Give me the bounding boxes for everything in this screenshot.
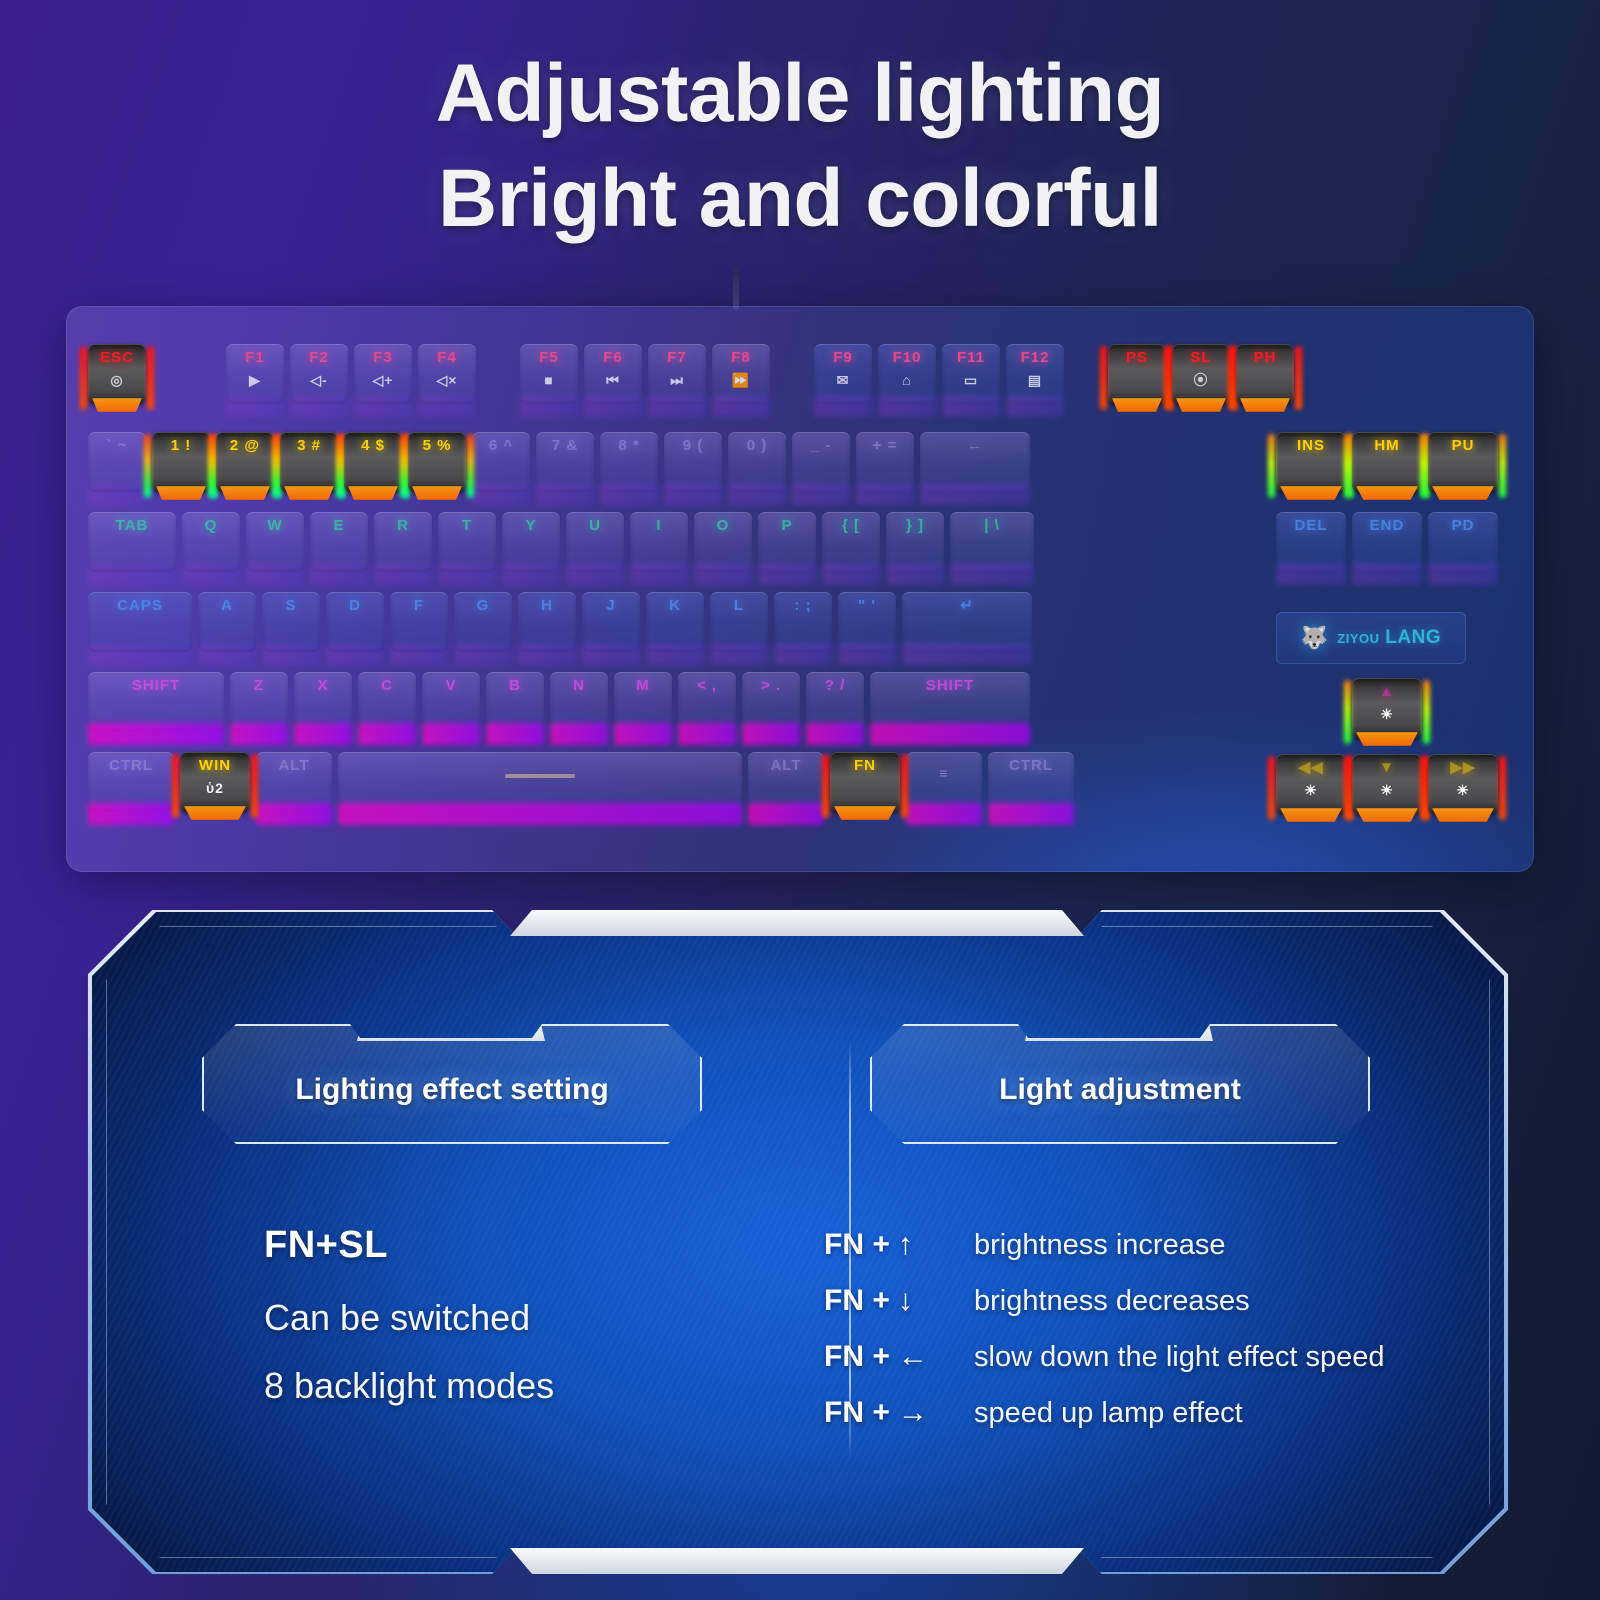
- key-row-qwerty-1[interactable]: Q: [182, 512, 240, 572]
- headline-line-1: Adjustable lighting: [120, 42, 1480, 147]
- key-underglow: [88, 643, 192, 665]
- key-row-qwerty-0[interactable]: TAB: [88, 512, 176, 572]
- key-underglow: [454, 643, 512, 665]
- key-arrow-down[interactable]: ▼☀: [1352, 754, 1422, 814]
- key-underglow: [358, 723, 416, 745]
- key-nav-hm[interactable]: HM: [1352, 432, 1422, 492]
- key-label: E: [333, 518, 344, 533]
- key-arrow-right[interactable]: ▶▶☀: [1428, 754, 1498, 814]
- key-label: PU: [1452, 438, 1475, 453]
- key-underglow: [338, 803, 742, 825]
- key-underglow: [230, 723, 288, 745]
- spacebar-marker: [505, 774, 575, 778]
- volume-down-icon: ◁-: [310, 373, 327, 387]
- key-underglow: [88, 723, 224, 745]
- key-f1[interactable]: F1▶: [226, 344, 284, 404]
- key-label: WIN: [199, 758, 231, 773]
- key-label: | \: [984, 518, 1000, 533]
- key-ALT-2[interactable]: ALT: [256, 752, 332, 812]
- brand-name-large: LANG: [1385, 627, 1441, 648]
- key-num-3[interactable]: 3 #: [280, 432, 338, 492]
- key-label: I: [656, 518, 661, 533]
- key-skirt-glow: [1432, 486, 1494, 500]
- key-row-qwerty-9[interactable]: O: [694, 512, 752, 572]
- key-side-light: [80, 346, 87, 410]
- key-menu-icon-6[interactable]: ≡: [906, 752, 982, 812]
- key-skirt-glow: [1280, 486, 1342, 500]
- key-label: W: [267, 518, 282, 533]
- key-underglow: [856, 483, 914, 505]
- key-side-light: [1100, 346, 1107, 410]
- key-label: A: [221, 598, 233, 613]
- keyboard-product-image: ESC◎F1▶F2◁-F3◁+F4◁×F5■F6⏮F7⏭F8⏩F9✉F10⌂F1…: [66, 306, 1534, 872]
- key-nav-pu[interactable]: PU: [1428, 432, 1498, 492]
- key-label: Y: [525, 518, 536, 533]
- key-label: ◀◀: [1298, 760, 1323, 775]
- brightness-sun-icon: ☀: [1380, 707, 1394, 721]
- key-underglow: [256, 803, 332, 825]
- key-label: ` ~: [107, 438, 128, 453]
- forward-icon: ⏩: [732, 373, 750, 387]
- key-skirt-glow: [1280, 808, 1342, 822]
- key-row-qwerty-7[interactable]: U: [566, 512, 624, 572]
- key-row-asdf-5[interactable]: G: [454, 592, 512, 652]
- key-label: B: [509, 678, 521, 693]
- key-row-asdf-9[interactable]: L: [710, 592, 768, 652]
- key-underglow: [988, 803, 1074, 825]
- page-headline: Adjustable lighting Bright and colorful: [0, 42, 1600, 252]
- shortcut-combo: FN +↑: [824, 1228, 974, 1262]
- key-row-qwerty-11[interactable]: { [: [822, 512, 880, 572]
- key-side-light: [467, 434, 474, 498]
- key-label: 8 *: [618, 438, 639, 453]
- left-description-line-2: 8 backlight modes: [264, 1365, 554, 1407]
- panel-top-notch: [510, 910, 1084, 936]
- brightness-sun-icon: ☀: [1456, 783, 1470, 797]
- key-underglow: [920, 483, 1030, 505]
- key-f3[interactable]: F3◁+: [354, 344, 412, 404]
- brand-logo-badge: 🐺 ZIYOU LANG: [1276, 612, 1466, 664]
- key-num-5[interactable]: 5 %: [408, 432, 466, 492]
- key-underglow: [520, 395, 578, 417]
- key-ps[interactable]: PS: [1108, 344, 1166, 404]
- key-row-asdf-3[interactable]: D: [326, 592, 384, 652]
- light-adjustment-row: FN +↑brightness increase: [824, 1228, 1385, 1262]
- shortcut-combo-text: FN +: [824, 1228, 890, 1261]
- key-skirt-glow: [92, 398, 142, 412]
- key-FN-5[interactable]: FN: [830, 752, 900, 812]
- key-label: 6 ^: [489, 438, 513, 453]
- key-row-qwerty-13[interactable]: | \: [950, 512, 1034, 572]
- key-underglow: [536, 483, 594, 505]
- key-label: 7 &: [552, 438, 578, 453]
- key-num-1[interactable]: 1 !: [152, 432, 210, 492]
- home-icon: ⌂: [902, 373, 911, 387]
- key-label: CTRL: [109, 758, 153, 773]
- key-row-qwerty-6[interactable]: Y: [502, 512, 560, 572]
- panel-bottom-notch: [510, 1548, 1084, 1574]
- key-underglow: [584, 395, 642, 417]
- key-row-zxcv-0[interactable]: SHIFT: [88, 672, 224, 732]
- key-nav-del[interactable]: DEL: [1276, 512, 1346, 572]
- keyboard-zxcv-row: SHIFTZXCVBNM< ,> .? /SHIFT: [88, 672, 1036, 732]
- key-f9[interactable]: F9✉: [814, 344, 872, 404]
- key-num-12[interactable]: + =: [856, 432, 914, 492]
- key-side-light: [1344, 756, 1351, 820]
- key-ph[interactable]: PH: [1236, 344, 1294, 404]
- key-underglow: [822, 563, 880, 585]
- key-side-light: [400, 434, 407, 498]
- key-underglow: [614, 723, 672, 745]
- key-underglow: [182, 563, 240, 585]
- wolf-icon: 🐺: [1301, 627, 1328, 649]
- key-row-qwerty-8[interactable]: I: [630, 512, 688, 572]
- key-underglow: [748, 803, 824, 825]
- key-row-zxcv-6[interactable]: N: [550, 672, 608, 732]
- key-label: } ]: [906, 518, 924, 533]
- key-label: L: [734, 598, 744, 613]
- key-underglow: [354, 395, 412, 417]
- shortcut-arrow-icon: ↑: [898, 1228, 913, 1262]
- key-underglow: [198, 643, 256, 665]
- shortcut-description: brightness decreases: [974, 1285, 1250, 1318]
- key-label: F11: [957, 350, 985, 365]
- key-underglow: [600, 483, 658, 505]
- key-skirt-glow: [834, 806, 896, 820]
- key-underglow: [246, 563, 304, 585]
- key-underglow: [262, 643, 320, 665]
- key-row-asdf-4[interactable]: F: [390, 592, 448, 652]
- key-underglow: [838, 643, 896, 665]
- key-skirt-glow: [412, 486, 462, 500]
- brand-wordmark: ZIYOU LANG: [1337, 627, 1441, 649]
- key-label: DEL: [1295, 518, 1328, 533]
- key-label: U: [589, 518, 601, 533]
- key-num-6[interactable]: 6 ^: [472, 432, 530, 492]
- brightness-sun-icon: ☀: [1304, 783, 1318, 797]
- key-esc[interactable]: ESC◎: [88, 344, 146, 404]
- key-row-asdf-8[interactable]: K: [646, 592, 704, 652]
- key-f5[interactable]: F5■: [520, 344, 578, 404]
- key-label: SHIFT: [926, 678, 974, 693]
- brightness-sun-icon: ☀: [1380, 783, 1394, 797]
- key-label: TAB: [116, 518, 149, 533]
- key-f12[interactable]: F12▤: [1006, 344, 1064, 404]
- key-underglow: [1276, 563, 1346, 585]
- shortcut-description: speed up lamp effect: [974, 1397, 1243, 1430]
- key-num-13[interactable]: ←: [920, 432, 1030, 492]
- key-label: 4 $: [361, 438, 385, 453]
- key-label: PD: [1452, 518, 1475, 533]
- key-row-qwerty-3[interactable]: E: [310, 512, 368, 572]
- key-underglow: [550, 723, 608, 745]
- key-label: V: [445, 678, 456, 693]
- key-label: INS: [1297, 438, 1325, 453]
- key-num-8[interactable]: 8 *: [600, 432, 658, 492]
- key-underglow: [870, 723, 1030, 745]
- key-arrow-up[interactable]: ▲☀: [1352, 678, 1422, 738]
- key-label: 2 @: [230, 438, 260, 453]
- key-arrow-left[interactable]: ◀◀☀: [1276, 754, 1346, 814]
- key-f4[interactable]: F4◁×: [418, 344, 476, 404]
- key-underglow: [418, 395, 476, 417]
- key-row-qwerty-4[interactable]: R: [374, 512, 432, 572]
- key-side-light: [1164, 346, 1171, 410]
- key-underglow: [902, 643, 1032, 665]
- key-label: CAPS: [117, 598, 163, 613]
- key-skirt-glow: [1176, 398, 1226, 412]
- key-f10[interactable]: F10⌂: [878, 344, 936, 404]
- key-nav-ins[interactable]: INS: [1276, 432, 1346, 492]
- left-combo-label: FN+SL: [264, 1224, 554, 1267]
- key-label: ALT: [278, 758, 309, 773]
- key-row-zxcv-3[interactable]: C: [358, 672, 416, 732]
- key-label: F9: [833, 350, 853, 365]
- key-row-zxcv-5[interactable]: B: [486, 672, 544, 732]
- stop-icon: ■: [544, 373, 553, 387]
- key-label: O: [717, 518, 730, 533]
- key-label: ▲: [1379, 684, 1395, 699]
- key-label: 1 !: [171, 438, 192, 453]
- key-row-asdf-2[interactable]: S: [262, 592, 320, 652]
- key-underglow: [886, 563, 944, 585]
- key-ALT-4[interactable]: ALT: [748, 752, 824, 812]
- key-row-zxcv-4[interactable]: V: [422, 672, 480, 732]
- key-label: K: [669, 598, 681, 613]
- key-label: F4: [437, 350, 457, 365]
- key-num-2[interactable]: 2 @: [216, 432, 274, 492]
- key-row-asdf-7[interactable]: J: [582, 592, 640, 652]
- key-CTRL-0[interactable]: CTRL: [88, 752, 174, 812]
- key-skirt-glow: [1432, 808, 1494, 822]
- key-f2[interactable]: F2◁-: [290, 344, 348, 404]
- key-underglow: [648, 395, 706, 417]
- key-label: HM: [1374, 438, 1399, 453]
- key-skirt-glow: [220, 486, 270, 500]
- key-label: END: [1370, 518, 1405, 533]
- next-track-icon: ⏭: [670, 373, 684, 387]
- key-underglow: [390, 643, 448, 665]
- key-num-9[interactable]: 9 (: [664, 432, 722, 492]
- key-label: F8: [731, 350, 751, 365]
- key-nav-pd[interactable]: PD: [1428, 512, 1498, 572]
- key-underglow: [88, 563, 176, 585]
- key-underglow: [326, 643, 384, 665]
- key-underglow: [630, 563, 688, 585]
- key-num-0[interactable]: ` ~: [88, 432, 146, 492]
- key-underglow: [502, 563, 560, 585]
- key-underglow: [878, 395, 936, 417]
- key-WIN-1[interactable]: WINὑ2: [180, 752, 250, 812]
- key-row-asdf-12[interactable]: ↵: [902, 592, 1032, 652]
- key-label: Z: [254, 678, 264, 693]
- key-underglow: [374, 563, 432, 585]
- key-row-zxcv-10[interactable]: ? /: [806, 672, 864, 732]
- key-label: 0 ): [747, 438, 768, 453]
- key-label: FN: [854, 758, 876, 773]
- mute-icon: ◁×: [437, 373, 458, 387]
- key-num-4[interactable]: 4 $: [344, 432, 402, 492]
- key-underglow: [806, 723, 864, 745]
- key-side-light: [1499, 434, 1506, 498]
- key-label: SL: [1190, 350, 1211, 365]
- key-label: 5 %: [423, 438, 452, 453]
- key-underglow: [486, 723, 544, 745]
- key-label: F1: [245, 350, 265, 365]
- key-label: 3 #: [297, 438, 321, 453]
- key-label: C: [381, 678, 393, 693]
- key-row-qwerty-12[interactable]: } ]: [886, 512, 944, 572]
- key-f7[interactable]: F7⏭: [648, 344, 706, 404]
- light-adjustment-list: FN +↑brightness increaseFN +↓brightness …: [824, 1228, 1385, 1452]
- key-f6[interactable]: F6⏮: [584, 344, 642, 404]
- key-side-light: [1344, 680, 1351, 744]
- keyboard-function-row: ESC◎F1▶F2◁-F3◁+F4◁×F5■F6⏮F7⏭F8⏩F9✉F10⌂F1…: [88, 344, 1300, 404]
- key-underglow: [518, 643, 576, 665]
- keyboard-asdf-row: CAPSASDFGHJKL: ;" '↵: [88, 592, 1038, 652]
- key-label: R: [397, 518, 409, 533]
- key-row-asdf-11[interactable]: " ': [838, 592, 896, 652]
- key-num-11[interactable]: _ -: [792, 432, 850, 492]
- key-label: J: [606, 598, 615, 613]
- key-label: G: [477, 598, 490, 613]
- key-label: ←: [967, 438, 983, 453]
- play-icon: ▶: [249, 373, 261, 387]
- key-side-light: [1268, 434, 1275, 498]
- key-CTRL-7[interactable]: CTRL: [988, 752, 1074, 812]
- key-label: ▼: [1379, 760, 1395, 775]
- key-underglow: [1006, 395, 1064, 417]
- key-underglow: [88, 803, 174, 825]
- power-eye-icon: ◎: [110, 373, 123, 387]
- computer-icon: ▭: [964, 373, 978, 387]
- key-label: F6: [603, 350, 623, 365]
- key-underglow: [758, 563, 816, 585]
- key-underglow: [906, 803, 982, 825]
- key-underglow: [226, 395, 284, 417]
- menu-icon: ≡: [939, 766, 948, 780]
- key-side-light: [172, 754, 179, 818]
- key-side-light: [822, 754, 829, 818]
- key-row-zxcv-8[interactable]: < ,: [678, 672, 736, 732]
- key-row-zxcv-2[interactable]: X: [294, 672, 352, 732]
- key-label: < ,: [697, 678, 717, 693]
- key-skirt-glow: [156, 486, 206, 500]
- light-adjustment-row: FN +↓brightness decreases: [824, 1284, 1385, 1318]
- shortcut-combo: FN +→: [824, 1396, 974, 1430]
- volume-up-icon: ◁+: [373, 373, 394, 387]
- shortcut-arrow-icon: →: [898, 1396, 928, 1430]
- key-side-light: [1295, 346, 1302, 410]
- key-row-asdf-1[interactable]: A: [198, 592, 256, 652]
- brand-name-small: ZIYOU: [1337, 631, 1379, 646]
- key-label: CTRL: [1009, 758, 1053, 773]
- key-underglow: [710, 643, 768, 665]
- key-row-zxcv-7[interactable]: M: [614, 672, 672, 732]
- key-side-light: [1344, 434, 1351, 498]
- key-side-light: [208, 434, 215, 498]
- key-f8[interactable]: F8⏩: [712, 344, 770, 404]
- lighting-effect-description: FN+SL Can be switched 8 backlight modes: [264, 1224, 554, 1407]
- key-label: SHIFT: [132, 678, 180, 693]
- key-nav-end[interactable]: END: [1352, 512, 1422, 572]
- key-num-7[interactable]: 7 &: [536, 432, 594, 492]
- key-label: Q: [205, 518, 218, 533]
- key-side-light: [1228, 346, 1235, 410]
- key-row-zxcv-1[interactable]: Z: [230, 672, 288, 732]
- key-label: + =: [873, 438, 898, 453]
- key-num-10[interactable]: 0 ): [728, 432, 786, 492]
- mail-icon: ✉: [837, 373, 850, 387]
- key-row-asdf-6[interactable]: H: [518, 592, 576, 652]
- key-label: > .: [761, 678, 781, 693]
- key-label: F: [414, 598, 424, 613]
- key-sl[interactable]: SL⦿: [1172, 344, 1230, 404]
- key-side-light: [272, 434, 279, 498]
- key-f11[interactable]: F11▭: [942, 344, 1000, 404]
- key-underglow: [814, 395, 872, 417]
- key-underglow: [678, 723, 736, 745]
- panel-header-right-label: Light adjustment: [999, 1073, 1241, 1107]
- key-underglow: [728, 483, 786, 505]
- key-row-qwerty-10[interactable]: P: [758, 512, 816, 572]
- key-row-qwerty-2[interactable]: W: [246, 512, 304, 572]
- key-underglow: [294, 723, 352, 745]
- key-skirt-glow: [1356, 486, 1418, 500]
- key-label: 9 (: [683, 438, 704, 453]
- headline-line-2: Bright and colorful: [120, 147, 1480, 252]
- key-label: PH: [1254, 350, 1277, 365]
- key-underglow: [646, 643, 704, 665]
- key-underglow: [310, 563, 368, 585]
- shortcut-description: brightness increase: [974, 1229, 1225, 1262]
- key-underglow: [472, 483, 530, 505]
- key-underglow: [566, 563, 624, 585]
- key-row-zxcv-9[interactable]: > .: [742, 672, 800, 732]
- shortcut-combo-text: FN +: [824, 1340, 890, 1373]
- key-skirt-glow: [284, 486, 334, 500]
- key-row-zxcv-11[interactable]: SHIFT: [870, 672, 1030, 732]
- key-underglow: [774, 643, 832, 665]
- key-underglow: [1352, 563, 1422, 585]
- key-row-asdf-0[interactable]: CAPS: [88, 592, 192, 652]
- key-side-light: [147, 346, 154, 410]
- key-label: _ -: [811, 438, 832, 453]
- shortcut-combo: FN +←: [824, 1340, 974, 1374]
- panel-header-light-adjustment: Light adjustment: [870, 1024, 1370, 1144]
- key-underglow: [942, 395, 1000, 417]
- key-label: F3: [373, 350, 393, 365]
- key-side-light: [251, 754, 258, 818]
- key-row-qwerty-5[interactable]: T: [438, 512, 496, 572]
- key-label: M: [636, 678, 650, 693]
- key-underglow: [712, 395, 770, 417]
- panel-header-left-label: Lighting effect setting: [295, 1073, 608, 1107]
- keyboard-bottom-row: CTRLWINὑ2ALTALTFN≡CTRL: [88, 752, 1080, 812]
- lock-icon: ὑ2: [206, 781, 224, 795]
- key-side-light: [144, 434, 151, 498]
- light-adjustment-row: FN +→speed up lamp effect: [824, 1396, 1385, 1430]
- shortcut-arrow-icon: ↓: [898, 1284, 913, 1318]
- key-row-asdf-10[interactable]: : ;: [774, 592, 832, 652]
- key-spacebar-3[interactable]: [338, 752, 742, 812]
- key-label: T: [462, 518, 472, 533]
- key-side-light: [1423, 680, 1430, 744]
- key-label: : ;: [794, 598, 811, 613]
- key-label: ? /: [825, 678, 846, 693]
- keyboard-nav-cluster-bottom: DELENDPD: [1276, 512, 1504, 572]
- key-label: ↵: [960, 598, 974, 613]
